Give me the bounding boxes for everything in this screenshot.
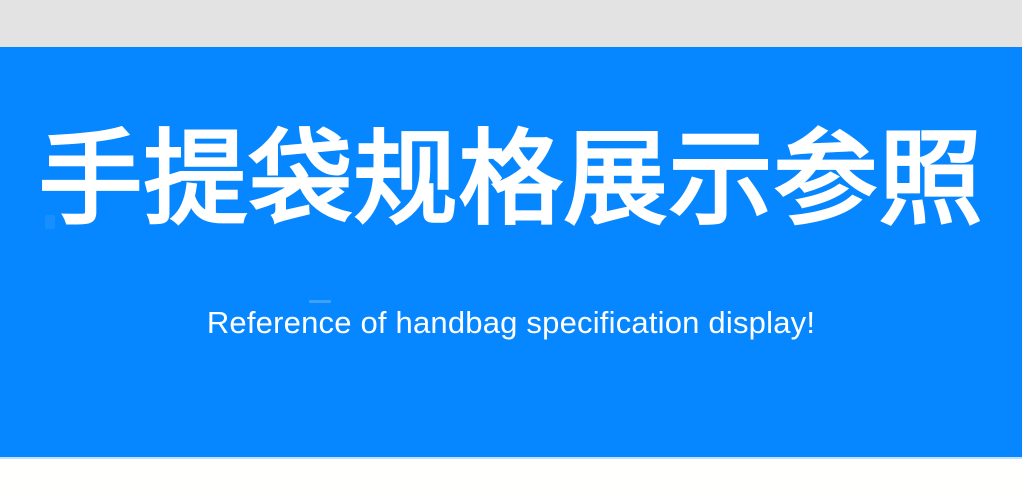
hero-banner-content: 手提袋规格展示参照 Reference of handbag specifica… xyxy=(0,47,1022,457)
top-gray-strip xyxy=(0,0,1022,47)
page-title: 手提袋规格展示参照 xyxy=(0,123,1022,235)
footer-white-area xyxy=(0,459,1022,495)
page-root: 手提袋规格展示参照 Reference of handbag specifica… xyxy=(0,0,1022,495)
hero-banner: 手提袋规格展示参照 Reference of handbag specifica… xyxy=(0,47,1022,457)
page-subtitle: Reference of handbag specification displ… xyxy=(0,302,1022,344)
